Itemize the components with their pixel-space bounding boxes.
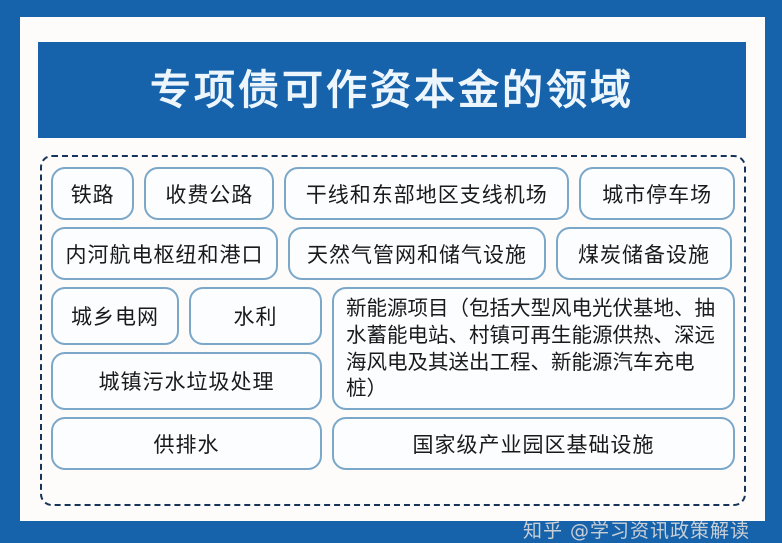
category-chip-water-supply-drainage[interactable]: 供排水 <box>51 417 322 470</box>
category-row-3-subrow: 城乡电网 水利 <box>51 287 322 345</box>
page-title: 专项债可作资本金的领域 <box>150 70 634 111</box>
category-row-3: 城乡电网 水利 城镇污水垃圾处理 新能源项目（包括大型风电光伏基地、抽水蓄能电站… <box>51 287 735 410</box>
category-chip-toll-road[interactable]: 收费公路 <box>144 167 274 220</box>
category-chip-railway[interactable]: 铁路 <box>51 167 134 220</box>
category-chip-new-energy-projects[interactable]: 新能源项目（包括大型风电光伏基地、抽水蓄能电站、村镇可再生能源供热、深远海风电及… <box>332 287 735 410</box>
watermark: 知乎 @学习资讯政策解读 <box>523 516 750 543</box>
title-banner: 专项债可作资本金的领域 <box>38 42 746 138</box>
poster-root: 专项债可作资本金的领域 铁路 收费公路 干线和东部地区支线机场 城市停车场 内河… <box>0 0 782 543</box>
category-chip-sewage-garbage-treatment[interactable]: 城镇污水垃圾处理 <box>51 352 322 410</box>
category-row-1: 铁路 收费公路 干线和东部地区支线机场 城市停车场 <box>51 167 735 220</box>
category-chip-natural-gas[interactable]: 天然气管网和储气设施 <box>288 227 546 280</box>
category-row-2: 内河航电枢纽和港口 天然气管网和储气设施 煤炭储备设施 <box>51 227 735 280</box>
category-chip-urban-rural-power-grid[interactable]: 城乡电网 <box>51 287 179 345</box>
category-chip-national-industrial-park[interactable]: 国家级产业园区基础设施 <box>332 417 735 470</box>
category-chip-city-parking[interactable]: 城市停车场 <box>579 167 735 220</box>
category-chip-coal-reserve[interactable]: 煤炭储备设施 <box>556 227 732 280</box>
white-card: 专项债可作资本金的领域 铁路 收费公路 干线和东部地区支线机场 城市停车场 内河… <box>20 17 765 521</box>
categories-dashed-container: 铁路 收费公路 干线和东部地区支线机场 城市停车场 内河航电枢纽和港口 天然气管… <box>40 155 746 506</box>
category-chip-inland-waterway-port[interactable]: 内河航电枢纽和港口 <box>51 227 278 280</box>
category-chip-water-conservancy[interactable]: 水利 <box>189 287 322 345</box>
category-chip-airport[interactable]: 干线和东部地区支线机场 <box>284 167 569 220</box>
category-row-3-left-column: 城乡电网 水利 城镇污水垃圾处理 <box>51 287 322 410</box>
category-row-4: 供排水 国家级产业园区基础设施 <box>51 417 735 470</box>
